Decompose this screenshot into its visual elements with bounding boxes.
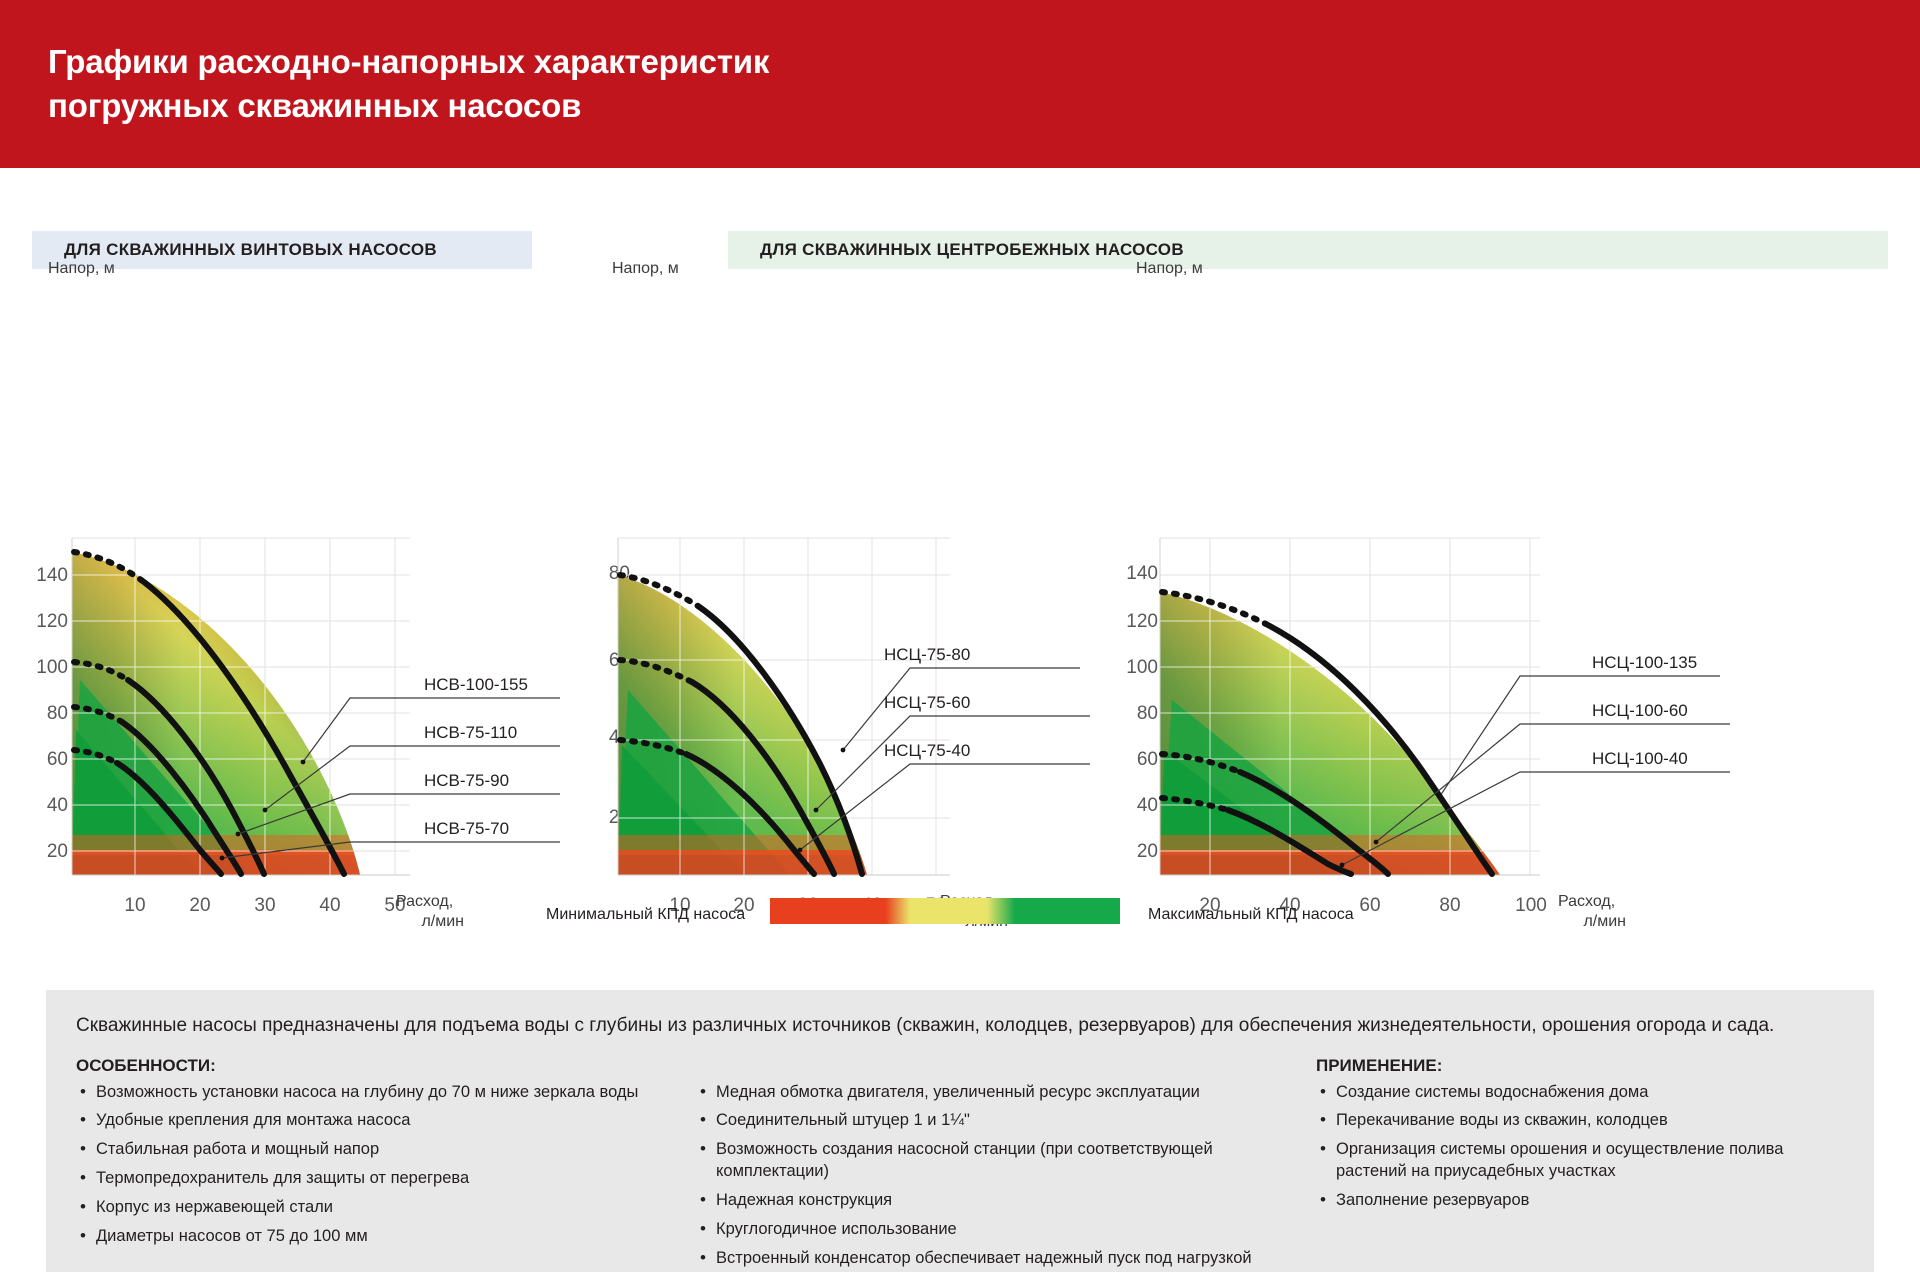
application-column: ПРИМЕНЕНИЕ: Создание системы водоснабжен… xyxy=(1316,1056,1836,1278)
list-item: Термопредохранитель для защиты от перегр… xyxy=(76,1168,696,1190)
chart1-label-nsv-75-110: НСВ-75-110 xyxy=(424,723,517,743)
list-item: Корпус из нержавеющей стали xyxy=(76,1197,696,1219)
list-item: Удобные крепления для монтажа насоса xyxy=(76,1110,696,1132)
chart1-label-nsv-100-155: НСВ-100-155 xyxy=(424,675,528,695)
list-item: Возможность создания насосной станции (п… xyxy=(696,1139,1316,1183)
application-list: Создание системы водоснабжения дома Пере… xyxy=(1316,1082,1836,1213)
list-item: Соединительный штуцер 1 и 1¼" xyxy=(696,1110,1316,1132)
features-column-2: ОСОБЕННОСТИ: Медная обмотка двигателя, у… xyxy=(696,1056,1316,1278)
page-title: Графики расходно-напорных характеристик … xyxy=(48,40,1448,128)
list-item: Перекачивание воды из скважин, колодцев xyxy=(1316,1110,1836,1132)
chart2-label-nsc-75-60: НСЦ-75-60 xyxy=(884,693,970,713)
chart1-label-nsv-75-90: НСВ-75-90 xyxy=(424,771,509,791)
chart-screw-pumps: Напор, м 140 120 100 80 60 40 20 10 20 3… xyxy=(0,250,600,700)
chart3-label-nsc-100-40: НСЦ-100-40 xyxy=(1592,749,1688,769)
list-item: Встроенный конденсатор обеспечивает наде… xyxy=(696,1248,1316,1270)
page-title-line2: погружных скважинных насосов xyxy=(48,84,1448,128)
legend-gradient-bar xyxy=(770,898,1120,924)
chart2-plot-area xyxy=(580,250,1110,950)
chart3-label-nsc-100-135: НСЦ-100-135 xyxy=(1592,653,1697,673)
chart2-label-nsc-75-80: НСЦ-75-80 xyxy=(884,645,970,665)
chart2-label-nsc-75-40: НСЦ-75-40 xyxy=(884,741,970,761)
list-item: Стабильная работа и мощный напор xyxy=(76,1139,696,1161)
features-heading: ОСОБЕННОСТИ: xyxy=(76,1056,696,1076)
features-column-1: ОСОБЕННОСТИ: Возможность установки насос… xyxy=(76,1056,696,1278)
list-item: Круглогодичное использование xyxy=(696,1219,1316,1241)
list-item: Надежная конструкция xyxy=(696,1190,1316,1212)
chart1-label-nsv-75-70: НСВ-75-70 xyxy=(424,819,509,839)
chart3-plot-area xyxy=(1120,250,1920,950)
list-item: Заполнение резервуаров xyxy=(1316,1190,1836,1212)
chart3-efficiency-field xyxy=(1152,530,1552,880)
chart1-plot-area xyxy=(0,250,600,950)
info-intro-text: Скважинные насосы предназначены для подъ… xyxy=(76,1012,1844,1040)
page-header: Графики расходно-напорных характеристик … xyxy=(0,0,1920,168)
page-title-line1: Графики расходно-напорных характеристик xyxy=(48,43,769,80)
list-item: Возможность установки насоса на глубину … xyxy=(76,1082,696,1104)
legend-max-label: Максимальный КПД насоса xyxy=(1148,906,1354,924)
list-item: Медная обмотка двигателя, увеличенный ре… xyxy=(696,1082,1316,1104)
list-item: Организация системы орошения и осуществл… xyxy=(1316,1139,1836,1183)
features-list-1: Возможность установки насоса на глубину … xyxy=(76,1082,696,1249)
legend-min-label: Минимальный КПД насоса xyxy=(546,906,745,924)
list-item: Диаметры насосов от 75 до 100 мм xyxy=(76,1226,696,1248)
application-heading: ПРИМЕНЕНИЕ: xyxy=(1316,1056,1836,1076)
chart-centrifugal-75-pumps: Напор, м 80 60 40 20 10 20 30 40 50 Расх… xyxy=(580,250,1110,700)
chart3-label-nsc-100-60: НСЦ-100-60 xyxy=(1592,701,1688,721)
chart-centrifugal-100-pumps: Напор, м 140 120 100 80 60 40 20 20 40 6… xyxy=(1120,250,1920,700)
info-panel: Скважинные насосы предназначены для подъ… xyxy=(46,990,1874,1272)
features-list-2: Медная обмотка двигателя, увеличенный ре… xyxy=(696,1082,1316,1271)
list-item: Создание системы водоснабжения дома xyxy=(1316,1082,1836,1104)
